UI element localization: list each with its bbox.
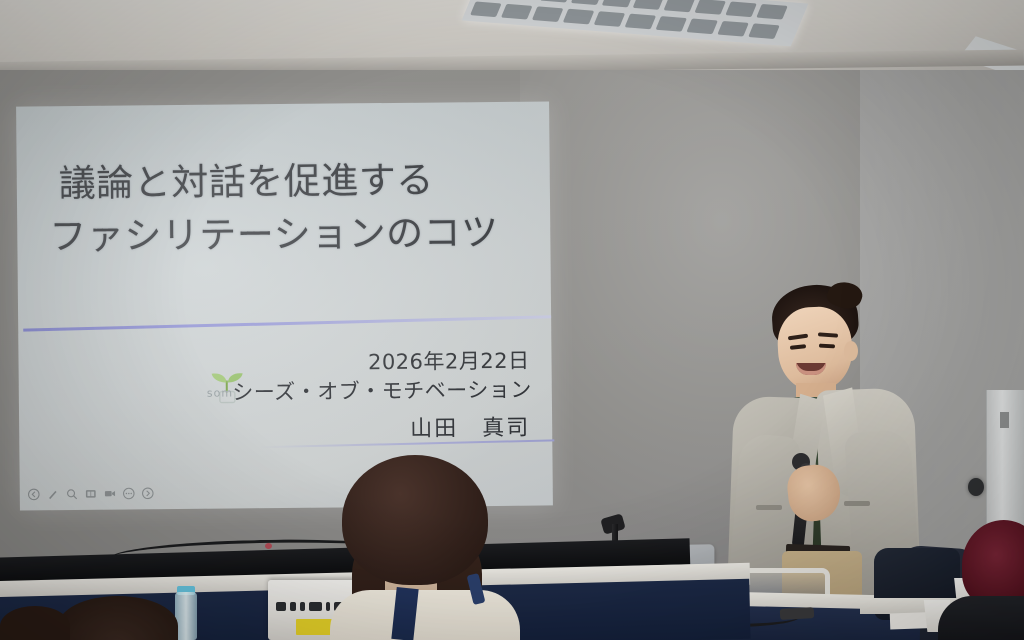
wall-speaker-icon [968,478,984,496]
slide-title-line-1: 議論と対話を促進する [59,159,434,206]
powerpoint-presenter-toolbar[interactable] [28,487,154,500]
presenter-eye-right [819,344,835,349]
zoom-in-icon[interactable] [66,488,78,500]
slide-organization: シーズ・オブ・モチベーション [232,374,532,407]
water-bottle-left [175,592,197,640]
slide-grid-icon[interactable] [85,488,97,500]
jacket-pocket-right [844,501,870,506]
slide-presenter-name: 山田 真司 [410,410,530,443]
audience-member-center [342,455,488,585]
presenter-ear [844,341,858,361]
presentation-photo-scene: 議論と対話を促進する ファシリテーションのコツ 2026年2月22日 som シ… [0,0,1024,640]
next-slide-icon[interactable] [142,487,154,499]
whiteboard-clip [1000,412,1009,428]
pen-icon[interactable] [47,488,59,500]
previous-slide-icon[interactable] [28,488,40,500]
logo-wordmark: som [207,386,233,399]
slide-title: 議論と対話を促進する ファシリテーションのコツ [59,154,530,264]
projected-slide: 議論と対話を促進する ファシリテーションのコツ 2026年2月22日 som シ… [16,101,553,510]
slide-title-line-2: ファシリテーションのコツ [49,206,529,263]
laser-pointer-icon[interactable] [104,488,116,500]
presenter-face [776,305,854,393]
audience-member-bottom-left-2 [0,606,70,640]
jacket-pocket-left [756,505,782,510]
slide-accent-divider [23,315,551,331]
power-adapter [780,607,815,620]
more-options-icon[interactable] [123,487,135,499]
slide-date: 2026年2月22日 [368,345,530,377]
audience-member-right-body [938,596,1024,640]
audience-member-center-top [330,590,520,640]
rail-indicator-dot [265,543,272,549]
